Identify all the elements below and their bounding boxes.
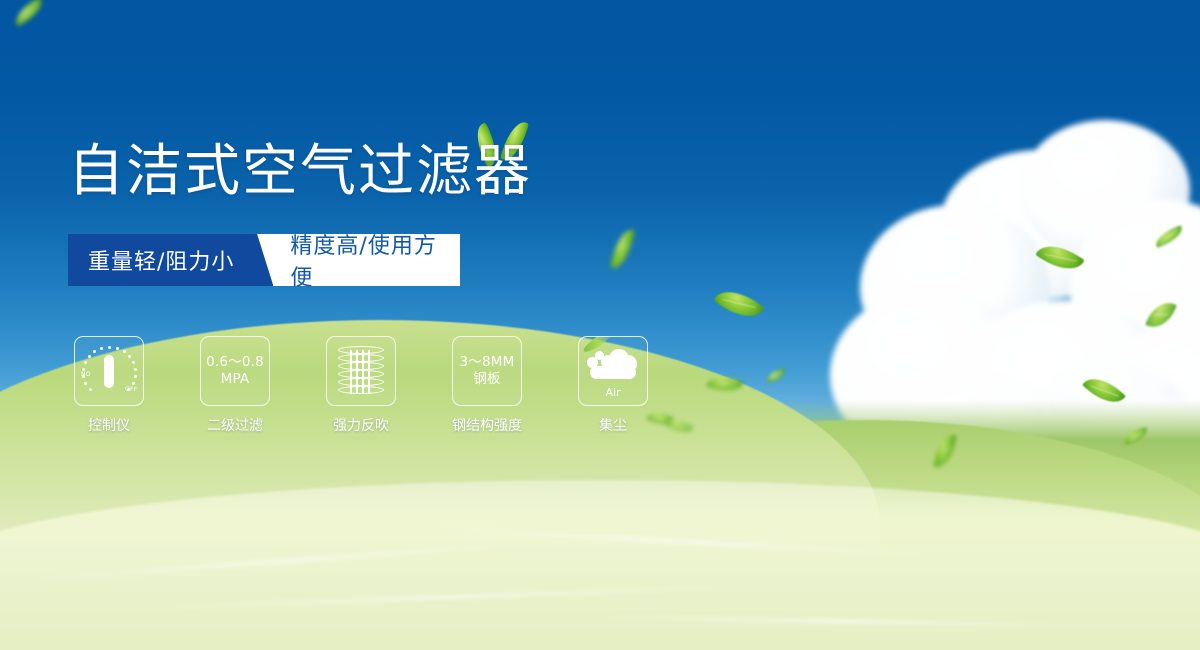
feature-item-backblow[interactable]: 强力反吹	[326, 336, 396, 435]
gauge-needle	[104, 355, 114, 388]
subtitle-right-text: 精度高/使用方便	[290, 228, 444, 292]
filter-cartridge-icon	[338, 346, 384, 396]
subtitle-left-text: 重量轻/阻力小	[88, 244, 234, 276]
gauge-label-off: OFF	[125, 386, 138, 394]
steel-line-2: 钢板	[460, 371, 515, 388]
air-cloud-icon	[585, 343, 641, 385]
subtitle-left-panel: 重量轻/阻力小	[68, 234, 256, 286]
feature-item-controller[interactable]: NO OFF 控制仪	[74, 336, 144, 435]
air-icon-text: Air	[605, 386, 620, 399]
pressure-text-icon: 0.6～0.8 MPA	[206, 354, 264, 388]
steel-line-1: 3～8MM	[460, 354, 515, 371]
feature-label: 钢结构强度	[452, 415, 522, 435]
gauge-icon: NO OFF	[82, 344, 136, 398]
subtitle-right-panel: 精度高/使用方便	[256, 234, 460, 286]
pressure-line-1: 0.6～0.8	[206, 354, 264, 371]
feature-icon-box: 3～8MM 钢板	[452, 336, 522, 406]
feature-item-dust[interactable]: Air 集尘	[578, 336, 648, 435]
feature-icon-box	[326, 336, 396, 406]
subtitle-bar: 重量轻/阻力小 精度高/使用方便	[68, 234, 460, 286]
page-title: 自洁式空气过滤器	[68, 142, 532, 202]
feature-label: 强力反吹	[333, 415, 389, 435]
steel-thickness-text-icon: 3～8MM 钢板	[460, 354, 515, 388]
feature-item-filtration[interactable]: 0.6～0.8 MPA 二级过滤	[200, 336, 270, 435]
feature-icon-box: 0.6～0.8 MPA	[200, 336, 270, 406]
feature-list: NO OFF 控制仪 0.6～0.8 MPA 二级过滤	[74, 336, 648, 435]
feature-label: 控制仪	[88, 415, 130, 435]
feature-icon-box: Air	[578, 336, 648, 406]
feature-icon-box: NO OFF	[74, 336, 144, 406]
feature-label: 二级过滤	[207, 415, 263, 435]
pressure-line-2: MPA	[206, 371, 264, 388]
feature-label: 集尘	[599, 415, 627, 435]
product-banner: 自洁式空气过滤器 重量轻/阻力小 精度高/使用方便	[0, 0, 1200, 650]
feature-item-steel[interactable]: 3～8MM 钢板 钢结构强度	[452, 336, 522, 435]
gauge-label-no: NO	[81, 371, 91, 378]
